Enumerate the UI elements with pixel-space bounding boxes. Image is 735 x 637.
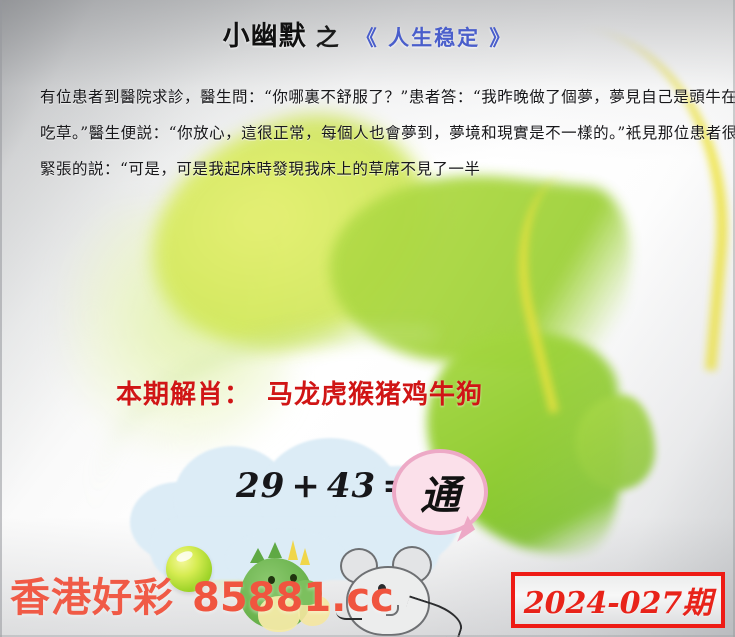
yellow-stem-top (456, 19, 735, 370)
equation-left-number: 29 (236, 466, 285, 506)
dragon-horn-icon (288, 540, 298, 560)
watermark-brand: 香港好彩 (10, 575, 174, 621)
leaf-blob-haze-left (60, 205, 290, 455)
jiexiao-animals: 马龙虎猴猪鸡牛狗 (267, 380, 483, 410)
yellow-stem-mid (494, 157, 685, 414)
leaf-nub-right (575, 395, 655, 490)
story-body: 有位患者到醫院求診，醫生問：“你哪裏不舒服了？”患者答：“我昨晚做了個夢，夢見自… (40, 79, 735, 187)
mouse-ear-right-icon (392, 546, 432, 584)
jiexiao-line: 本期解肖：马龙虎猴猪鸡牛狗 (116, 374, 483, 411)
issue-number-text: 2024-027期 (524, 578, 713, 622)
jiexiao-label: 本期解肖： (116, 380, 251, 410)
dragon-horn-two-icon (300, 548, 310, 565)
equation-right-number: 43 (327, 466, 376, 506)
leaf-blob-mid (321, 160, 639, 380)
watermark-site: 85881.cc (192, 575, 394, 621)
poster-canvas: 小幽默 之 《 人生稳定 》 有位患者到醫院求診，醫生問：“你哪裏不舒服了？”患… (0, 0, 735, 637)
story-paragraph: 有位患者到醫院求診，醫生問：“你哪裏不舒服了？”患者答：“我昨晚做了個夢，夢見自… (40, 79, 735, 187)
issue-number-box: 2024-027期 (511, 572, 725, 628)
equation-text: 29+43= (236, 466, 418, 506)
site-watermark: 香港好彩85881.cc (10, 565, 394, 623)
title-zhi-text: 之 (316, 25, 339, 51)
title-main-text: 小幽默 (223, 21, 307, 52)
green-sweep-left (95, 330, 435, 590)
frame-left-edge (0, 0, 2, 637)
dragon-spike-icon (250, 548, 266, 563)
answer-character: 通 (392, 449, 488, 535)
mouse-tail-icon (401, 595, 467, 637)
dragon-spike-two-icon (268, 542, 282, 558)
title-subtitle-text: 《 人生稳定 》 (356, 26, 513, 50)
equation-plus-sign: + (291, 466, 321, 506)
page-title: 小幽默 之 《 人生稳定 》 (0, 14, 735, 53)
fruit-ball-shine-icon (175, 549, 194, 564)
